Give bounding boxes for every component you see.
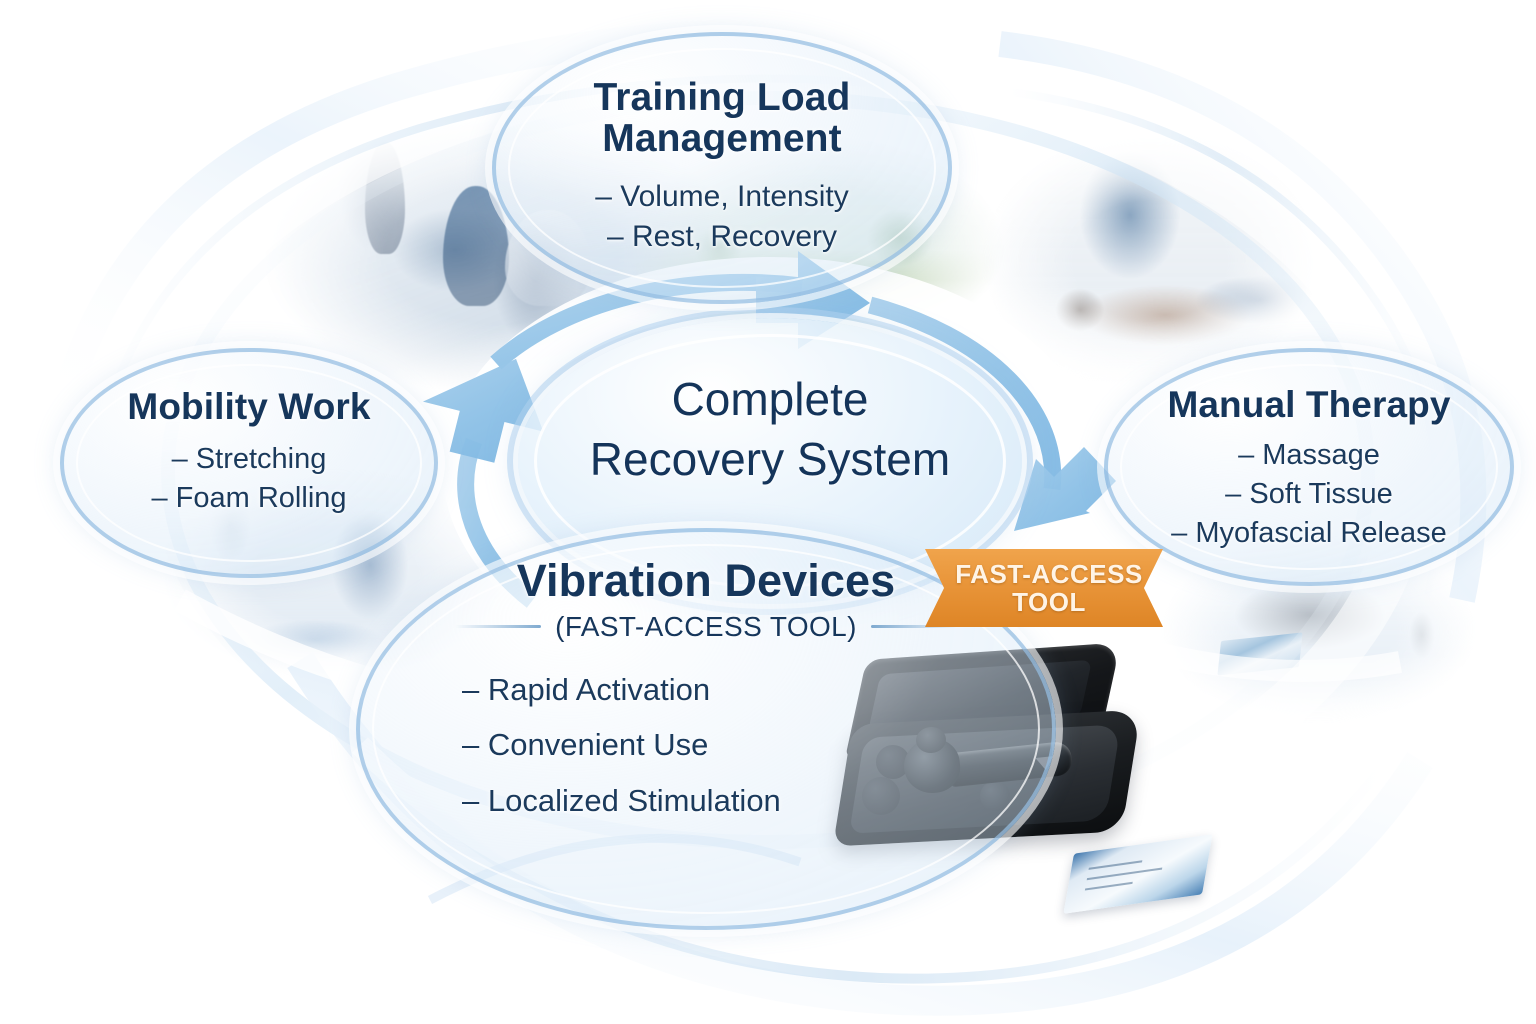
list-item: – Myofascial Release [1108,514,1510,553]
node-list-mobility-work: – Stretching – Foam Rolling [64,440,434,518]
list-item: – Massage [1108,436,1510,475]
list-item: – Soft Tissue [1108,475,1510,514]
fast-access-tool-badge-label: FAST-ACCESS TOOL [945,560,1143,616]
node-title-mobility-work: Mobility Work [64,388,434,426]
node-list-training-load-management: – Volume, Intensity – Rest, Recovery [496,177,948,257]
node-manual-therapy[interactable]: Manual Therapy – Massage – Soft Tissue –… [1104,348,1514,586]
list-item: – Stretching [64,440,434,479]
list-item: – Rest, Recovery [496,217,948,257]
center-node-label: Complete Recovery System [518,370,1022,490]
node-training-load-management[interactable]: Training Load Management – Volume, Inten… [492,32,952,304]
arrow-right-down-head [1014,447,1116,531]
list-item: – Convenient Use [462,724,1052,766]
node-list-vibration-devices: – Rapid Activation – Convenient Use – Lo… [360,669,1052,822]
node-mobility-work[interactable]: Mobility Work – Stretching – Foam Rollin… [60,348,438,578]
node-title-manual-therapy: Manual Therapy [1108,386,1510,424]
list-item: – Rapid Activation [462,669,1052,711]
fast-access-tool-badge[interactable]: FAST-ACCESS TOOL [925,549,1163,627]
subtitle-rule-left [455,625,541,628]
infographic-canvas: Complete Recovery System Training Load M… [0,0,1536,1024]
list-item: – Localized Stimulation [462,780,1052,822]
node-title-training-load-management: Training Load Management [496,78,948,159]
list-item: – Foam Rolling [64,479,434,518]
photo-gym-bag-card [1217,632,1302,675]
node-subtitle-text: (FAST-ACCESS TOOL) [555,611,857,643]
list-item: – Volume, Intensity [496,177,948,217]
node-list-manual-therapy: – Massage – Soft Tissue – Myofascial Rel… [1108,436,1510,553]
